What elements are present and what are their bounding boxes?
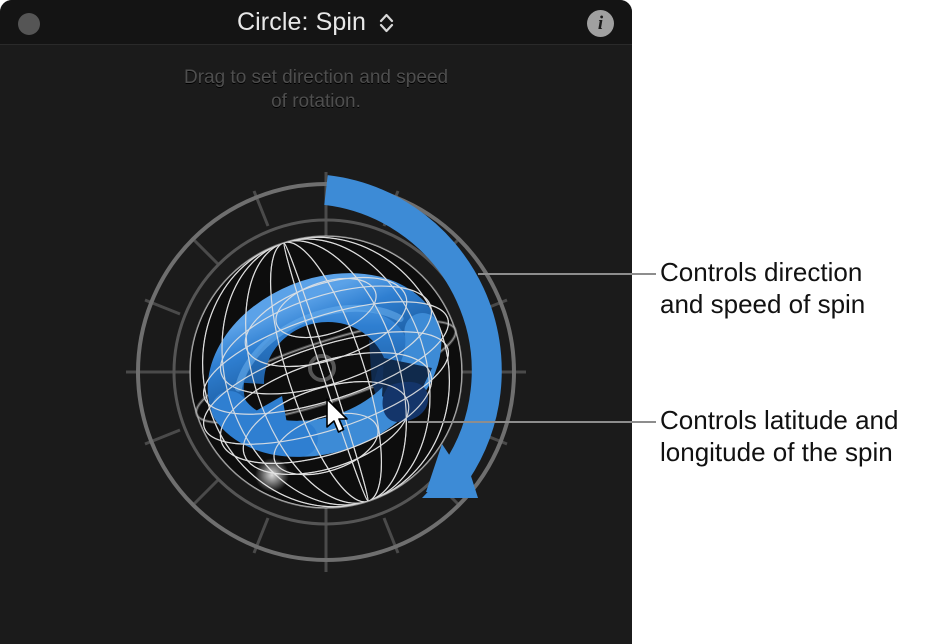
screenshot-root: Circle: Spin i Drag to set direction and…: [0, 0, 940, 644]
hud-hint-text: Drag to set direction and speed of rotat…: [0, 66, 632, 114]
hud-title-group: Circle: Spin: [0, 0, 632, 45]
hint-line-1: Drag to set direction and speed: [0, 66, 632, 90]
annotation-line-2: and speed of spin: [660, 288, 935, 320]
annotation-line-1: Controls latitude and: [660, 404, 938, 436]
annotation-direction-speed: Controls direction and speed of spin: [660, 256, 935, 320]
info-glyph: i: [598, 14, 603, 33]
leader-line-latitude-longitude: [408, 421, 656, 423]
spin-3d-control[interactable]: [126, 172, 526, 572]
annotation-line-1: Controls direction: [660, 256, 935, 288]
hud-titlebar: Circle: Spin i: [0, 0, 632, 45]
chevron-up-down-icon[interactable]: [378, 12, 395, 34]
annotation-latitude-longitude: Controls latitude and longitude of the s…: [660, 404, 938, 468]
hint-line-2: of rotation.: [0, 90, 632, 114]
mouse-pointer: [325, 398, 351, 436]
spin-hud-panel: Circle: Spin i Drag to set direction and…: [0, 0, 632, 644]
leader-line-direction-speed: [478, 273, 656, 275]
page-title: Circle: Spin: [237, 8, 366, 37]
annotation-line-2: longitude of the spin: [660, 436, 938, 468]
info-icon[interactable]: i: [587, 10, 614, 37]
